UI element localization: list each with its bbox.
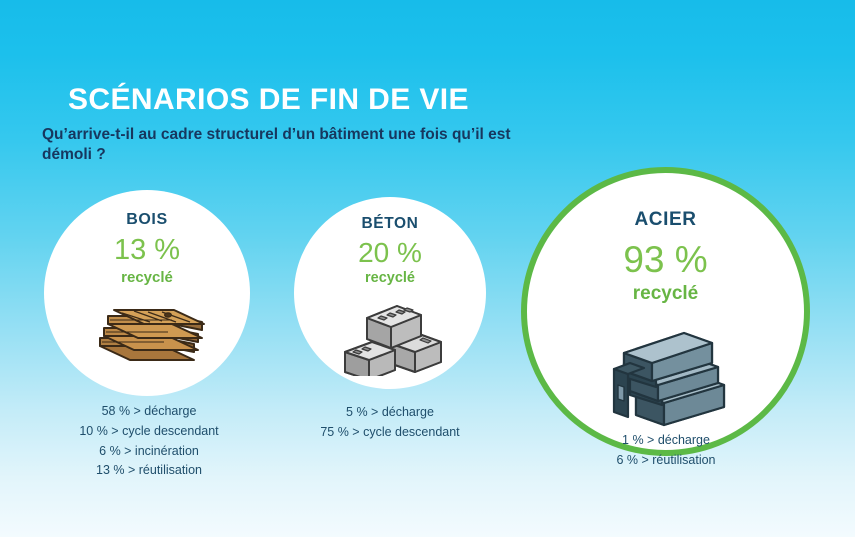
heading-block: SCÉNARIOS DE FIN DE VIE Qu’arrive-t-il a… xyxy=(68,84,538,166)
material-name-bois: BOIS xyxy=(126,211,168,229)
steel-beams-icon xyxy=(527,321,804,433)
material-name-acier: ACIER xyxy=(634,209,696,231)
breakdown-list-acier: 1 % > décharge 6 % > réutilisation xyxy=(578,431,754,471)
breakdown-item: 5 % > décharge xyxy=(300,403,480,423)
end-of-life-scenarios-infographic: SCÉNARIOS DE FIN DE VIE Qu’arrive-t-il a… xyxy=(0,0,855,537)
material-circle-bois: BOIS 13 % recyclé xyxy=(44,190,250,396)
material-percent-acier: 93 % xyxy=(623,241,707,278)
breakdown-item: 6 % > réutilisation xyxy=(578,451,754,471)
material-recycled-label-acier: recyclé xyxy=(633,283,699,305)
material-circle-acier: ACIER 93 % recyclé xyxy=(521,167,810,456)
breakdown-list-bois: 58 % > décharge 10 % > cycle descendant … xyxy=(64,402,234,481)
page-subtitle: Qu’arrive-t-il au cadre structurel d’un … xyxy=(42,125,512,166)
concrete-blocks-icon xyxy=(294,296,486,376)
material-recycled-label-bois: recyclé xyxy=(121,269,173,286)
breakdown-item: 1 % > décharge xyxy=(578,431,754,451)
material-percent-bois: 13 % xyxy=(114,236,180,265)
breakdown-list-beton: 5 % > décharge 75 % > cycle descendant xyxy=(300,403,480,443)
breakdown-item: 6 % > incinération xyxy=(64,442,234,462)
breakdown-item: 58 % > décharge xyxy=(64,402,234,422)
material-percent-beton: 20 % xyxy=(358,239,422,267)
material-circle-beton: BÉTON 20 % recyclé xyxy=(294,197,486,389)
breakdown-item: 75 % > cycle descendant xyxy=(300,423,480,443)
breakdown-item: 13 % > réutilisation xyxy=(64,461,234,481)
wood-planks-icon xyxy=(44,298,250,372)
breakdown-item: 10 % > cycle descendant xyxy=(64,422,234,442)
page-title: SCÉNARIOS DE FIN DE VIE xyxy=(68,84,538,116)
material-recycled-label-beton: recyclé xyxy=(365,270,415,286)
material-name-beton: BÉTON xyxy=(362,215,419,233)
